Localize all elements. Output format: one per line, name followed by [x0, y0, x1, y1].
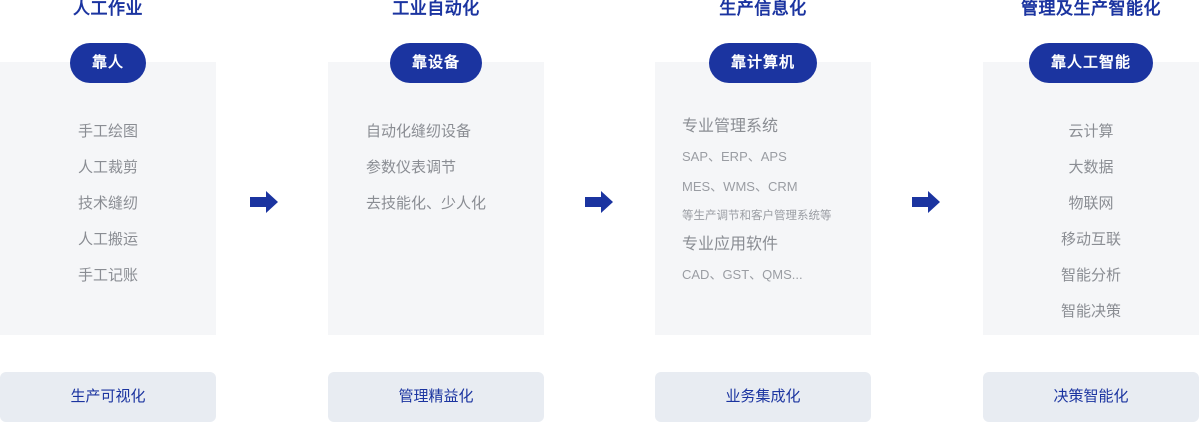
stage-item-list-4: 云计算 大数据 物联网 移动互联 智能分析 智能决策	[983, 114, 1199, 330]
arrow-right-icon	[250, 191, 278, 213]
outcome-pill-2[interactable]: 管理精益化	[328, 372, 544, 422]
list-item: 自动化缝纫设备	[366, 114, 544, 150]
stage-column-3: 生产信息化 靠计算机 专业管理系统 SAP、ERP、APS MES、WMS、CR…	[655, 0, 871, 423]
list-item: 移动互联	[983, 222, 1199, 258]
list-item: 人工裁剪	[0, 150, 216, 186]
stage-title-1: 人工作业	[0, 0, 216, 20]
list-item-heading: 专业应用软件	[682, 230, 872, 260]
stage-column-1: 人工作业 靠人 手工绘图 人工裁剪 技术缝纫 人工搬运 手工记账	[0, 0, 216, 423]
outcome-pill-3[interactable]: 业务集成化	[655, 372, 871, 422]
list-item: 物联网	[983, 186, 1199, 222]
stage-title-2: 工业自动化	[328, 0, 544, 20]
stage-badge-1[interactable]: 靠人	[70, 43, 146, 83]
outcome-pill-1[interactable]: 生产可视化	[0, 372, 216, 422]
list-item-heading: 专业管理系统	[682, 112, 872, 142]
list-item: 智能分析	[983, 258, 1199, 294]
list-item: 手工绘图	[0, 114, 216, 150]
stage-item-list-2: 自动化缝纫设备 参数仪表调节 去技能化、少人化	[328, 114, 544, 222]
list-item: 大数据	[983, 150, 1199, 186]
stage-item-list-3: 专业管理系统 SAP、ERP、APS MES、WMS、CRM 等生产调节和客户管…	[682, 112, 872, 290]
stage-badge-4[interactable]: 靠人工智能	[1029, 43, 1153, 83]
list-item: 云计算	[983, 114, 1199, 150]
list-item: MES、WMS、CRM	[682, 172, 872, 202]
list-item: 手工记账	[0, 258, 216, 294]
stage-item-list-1: 手工绘图 人工裁剪 技术缝纫 人工搬运 手工记账	[0, 114, 216, 294]
outcome-pill-4[interactable]: 决策智能化	[983, 372, 1199, 422]
list-item: 人工搬运	[0, 222, 216, 258]
stage-column-4: 管理及生产智能化 靠人工智能 云计算 大数据 物联网 移动互联 智能分析 智能决…	[983, 0, 1199, 423]
stage-title-3: 生产信息化	[655, 0, 871, 20]
list-item-note: 等生产调节和客户管理系统等	[682, 202, 872, 230]
stage-badge-2[interactable]: 靠设备	[390, 43, 482, 83]
maturity-stage-diagram: 人工作业 靠人 手工绘图 人工裁剪 技术缝纫 人工搬运 手工记账 工业自动化 靠…	[0, 0, 1199, 423]
list-item: SAP、ERP、APS	[682, 142, 872, 172]
stage-title-4: 管理及生产智能化	[977, 0, 1199, 20]
arrow-right-icon	[585, 191, 613, 213]
list-item: CAD、GST、QMS...	[682, 260, 872, 290]
list-item: 参数仪表调节	[366, 150, 544, 186]
list-item: 智能决策	[983, 294, 1199, 330]
stage-badge-3[interactable]: 靠计算机	[709, 43, 817, 83]
arrow-right-icon	[912, 191, 940, 213]
list-item: 去技能化、少人化	[366, 186, 544, 222]
list-item: 技术缝纫	[0, 186, 216, 222]
stage-column-2: 工业自动化 靠设备 自动化缝纫设备 参数仪表调节 去技能化、少人化	[328, 0, 544, 423]
